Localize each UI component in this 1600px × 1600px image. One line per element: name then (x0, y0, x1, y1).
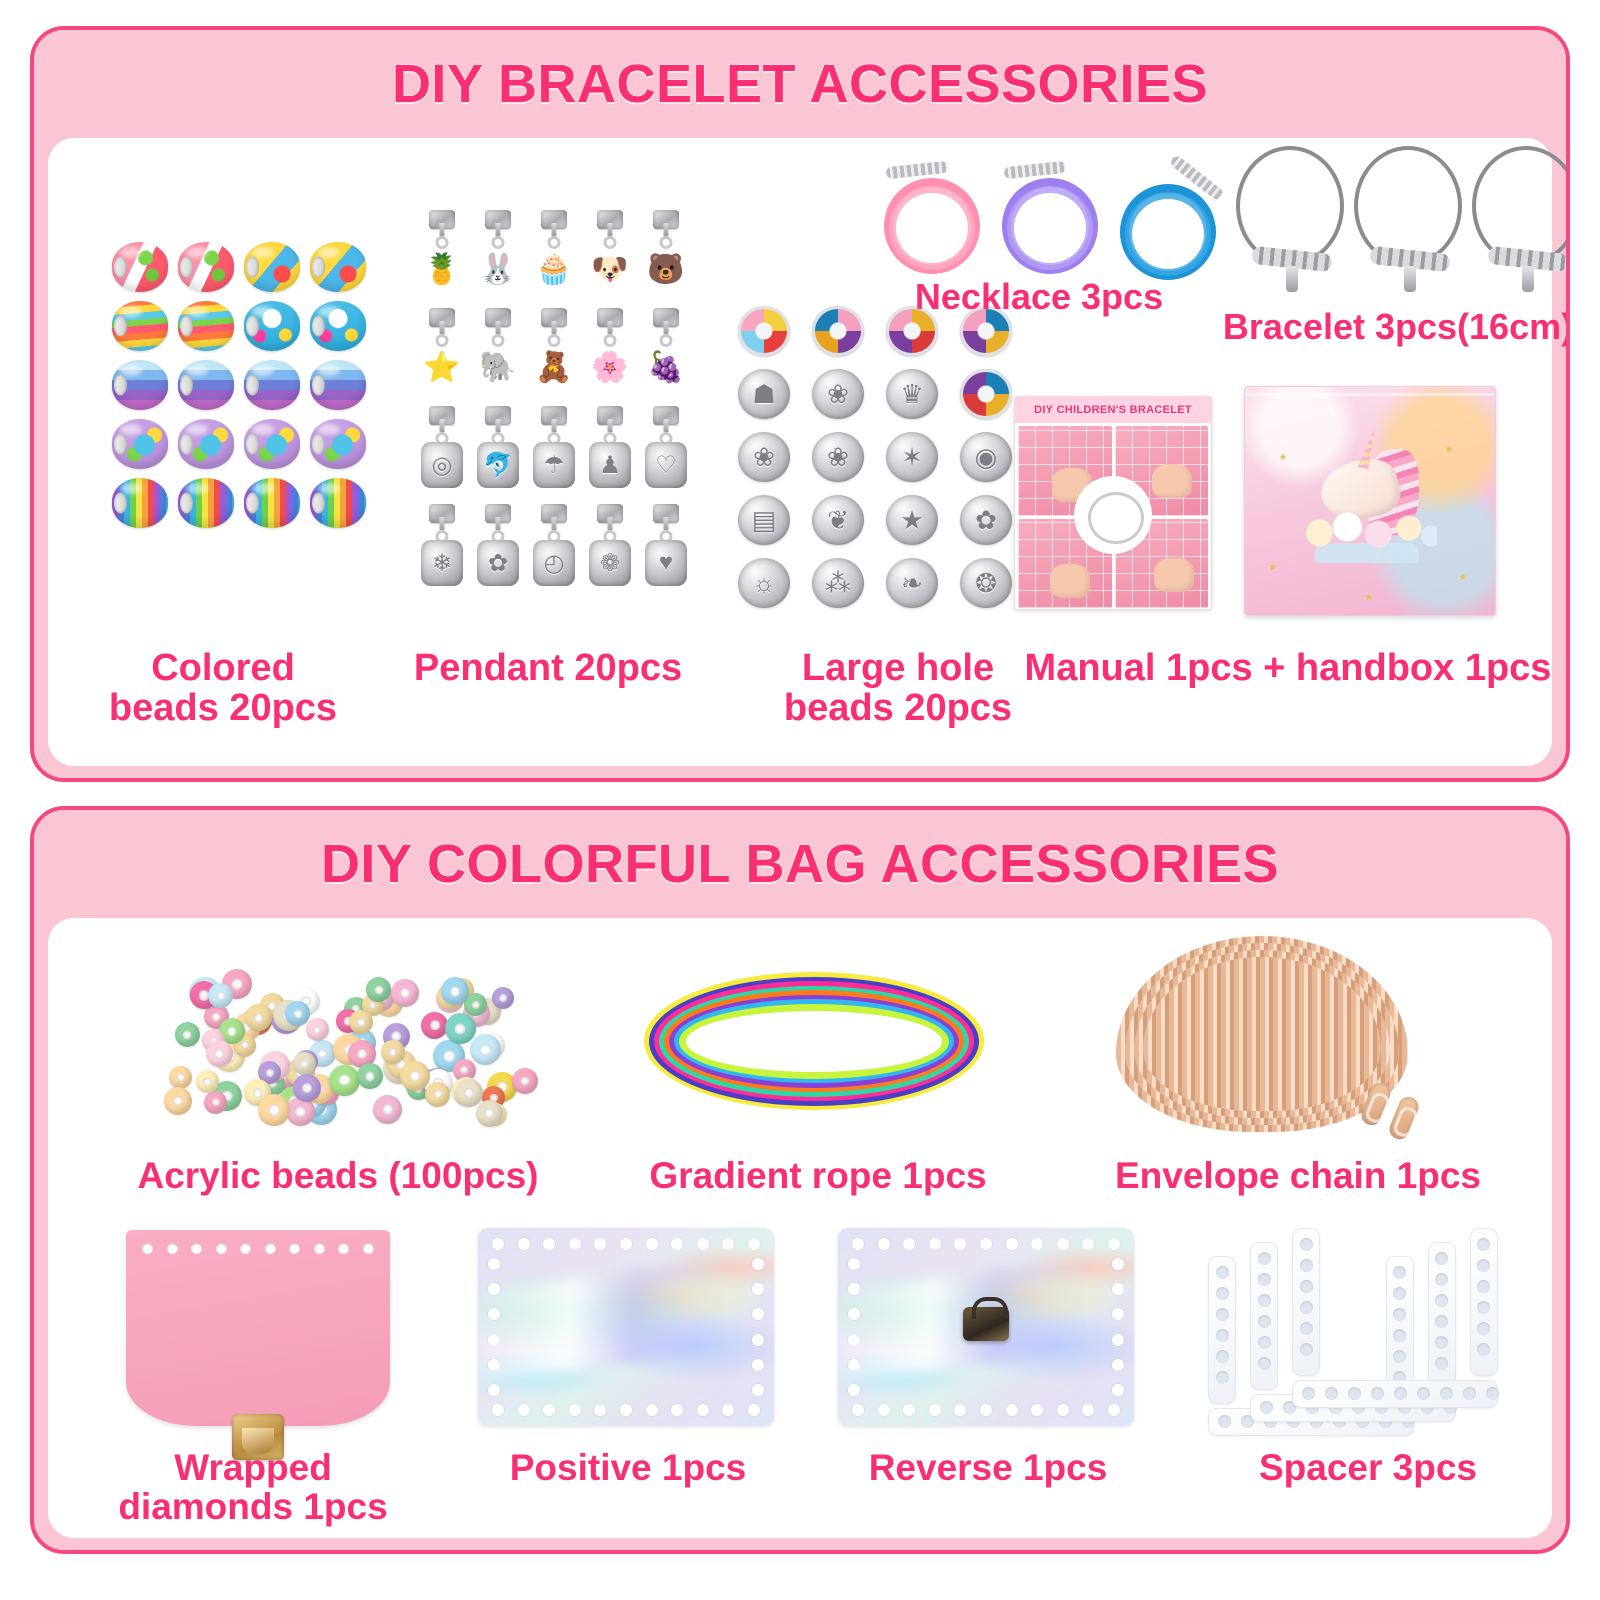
colored-bead-splash-blue (310, 301, 366, 351)
manual-card: DIY CHILDREN'S BRACELET (1014, 396, 1212, 610)
pendant-clock: ◴ (530, 504, 578, 592)
section-title-bracelet: DIY BRACELET ACCESSORIES (392, 53, 1208, 115)
pendant-charm-pink-bear: 🐻 (645, 246, 687, 292)
acrylic-bead (175, 1022, 200, 1047)
pendant-charm-pineapple: 🍍 (421, 246, 463, 292)
acrylic-bead (357, 1063, 383, 1089)
acrylic-bead (400, 1061, 430, 1091)
pendant-round-frame: ◎ (418, 406, 466, 494)
reverse-panel-lock (963, 1307, 1009, 1341)
large-hole-bead-train: ▤ (738, 495, 790, 545)
rope-loop (679, 1004, 949, 1079)
acrylic-bead (349, 1010, 373, 1034)
large-hole-bead-angel-wings: ❂ (960, 558, 1012, 608)
pendant-charm-reindeer: ❁ (589, 540, 631, 586)
acrylic-bead (293, 1074, 321, 1102)
pendant-angel: ♟ (586, 406, 634, 494)
acrylic-bead (293, 1052, 316, 1075)
pendant-bail (597, 210, 623, 229)
section-panel-bag: Acrylic beads (100pcs) Gradient rope 1pc… (48, 918, 1552, 1538)
acrylic-bead (445, 1013, 476, 1044)
pendant-pink-bear: 🐻 (642, 210, 690, 298)
holo-holes-bottom (852, 1404, 1120, 1416)
pendant-bail (429, 504, 455, 523)
pendant-blue-elephant: 🐘 (474, 308, 522, 396)
holo-holes-left (488, 1258, 500, 1396)
large-hole-bead-fairy: ⁂ (812, 558, 864, 608)
section-header-bracelet: DIY BRACELET ACCESSORIES (34, 30, 1566, 138)
pendant-charm-round-frame: ◎ (421, 442, 463, 488)
pendant-dog-tag: ♥ (642, 504, 690, 592)
acrylic-bead (512, 1068, 538, 1094)
pendant-charm-blue-cake: 🧁 (533, 246, 575, 292)
holo-holes-left (848, 1258, 860, 1396)
holo-holes-top (852, 1238, 1120, 1250)
acrylic-bead (258, 1094, 290, 1126)
label-bracelet: Bracelet 3pcs(16cm) (1198, 308, 1570, 346)
spacer-holes-left (1216, 1266, 1229, 1384)
section-title-bag: DIY COLORFUL BAG ACCESSORIES (321, 833, 1279, 895)
colored-bead-lilac-confetti (310, 419, 366, 469)
necklace-blue (1114, 166, 1226, 284)
colored-bead-rainbow-stripe (244, 478, 300, 528)
spacer-holes-left (1258, 1252, 1271, 1370)
bracelet-3 (1464, 146, 1570, 306)
pendant-bail (485, 406, 511, 425)
pendant-charm-angel: ♟ (589, 442, 631, 488)
flap-holes (142, 1243, 374, 1254)
manual-center-illustration (1076, 478, 1150, 552)
pendant-bail (597, 504, 623, 523)
pendant-bail (485, 210, 511, 229)
pendant-bail (485, 504, 511, 523)
pendant-charm-paw-print: ✿ (477, 540, 519, 586)
colored-bead-confetti-yellow (310, 242, 366, 292)
pendant-bail (541, 308, 567, 327)
label-gradient-rope: Gradient rope 1pcs (608, 1156, 1028, 1195)
section-card-bag: DIY COLORFUL BAG ACCESSORIES Acrylic bea… (30, 806, 1570, 1554)
pendant-charm-yellow-bear: 🧸 (533, 344, 575, 390)
colored-bead-stripe-warm (178, 301, 234, 351)
pendant-charm-moon-heart: ♡ (645, 442, 687, 488)
large-hole-beads-grid: ☗❀♛❀❀✶◉▤❦★✿☼⁂❧❂ (738, 306, 1012, 608)
acrylic-bead (476, 1100, 503, 1127)
label-manual-handbox: Manual 1pcs + handbox 1pcs (1008, 648, 1568, 688)
section-header-bag: DIY COLORFUL BAG ACCESSORIES (34, 810, 1566, 918)
pendant-charm-dolphin: 🐬 (477, 442, 519, 488)
large-hole-bead-butterfly (812, 306, 864, 356)
necklace-pink (878, 160, 990, 278)
colored-bead-gradient-blue-purple (178, 360, 234, 410)
holo-panel-positive (478, 1228, 774, 1426)
large-hole-bead-bell: ☗ (738, 369, 790, 419)
spacer-holes-bottom (1302, 1387, 1499, 1400)
label-acrylic-beads: Acrylic beads (100pcs) (78, 1156, 598, 1195)
necklace-extender-chain (1004, 161, 1067, 179)
colored-bead-gradient-blue-purple (244, 360, 300, 410)
acrylic-bead (391, 979, 419, 1007)
pendant-reindeer: ❁ (586, 504, 634, 592)
label-necklace: Necklace 3pcs (874, 278, 1204, 316)
large-hole-bead-enamel-star-flower (960, 369, 1012, 419)
spacer-holes-left (1300, 1238, 1313, 1356)
colored-bead-rainbow-stripe (178, 478, 234, 528)
holo-holes-bottom (492, 1404, 760, 1416)
pendant-bail (597, 406, 623, 425)
pendant-paw-print: ✿ (474, 504, 522, 592)
acrylic-bead (470, 1034, 501, 1065)
pendant-bail (485, 308, 511, 327)
pendant-bail (429, 210, 455, 229)
pendant-charm-blue-elephant: 🐘 (477, 344, 519, 390)
spacer-group (1208, 1222, 1528, 1438)
pendant-pineapple: 🍍 (418, 210, 466, 298)
pendant-charm-pink-flower: 🌸 (589, 344, 631, 390)
large-hole-bead-panda-face: ◉ (960, 432, 1012, 482)
label-envelope-chain: Envelope chain 1pcs (1078, 1156, 1518, 1195)
colored-bead-stripe-warm (112, 301, 168, 351)
pendant-pink-bunny: 🐰 (474, 210, 522, 298)
acrylic-bead (164, 1087, 192, 1115)
pendant-bail (597, 308, 623, 327)
acrylic-bead (492, 987, 514, 1009)
pendant-pink-flower: 🌸 (586, 308, 634, 396)
colored-bead-lilac-confetti (112, 419, 168, 469)
pendant-snowflake: ❄ (418, 504, 466, 592)
large-hole-bead-smiley-sun-flower (738, 306, 790, 356)
spacer-holes-right (1477, 1238, 1490, 1356)
pendant-charm-pink-bunny: 🐰 (477, 246, 519, 292)
large-hole-bead-sun-face: ☼ (738, 558, 790, 608)
necklace-purple (996, 160, 1108, 278)
infographic-page: DIY BRACELET ACCESSORIES Colored beads 2… (0, 0, 1600, 1600)
pendant-purple-star: ⭐ (418, 308, 466, 396)
section-panel-bracelet: Colored beads 20pcs 🍍🐰🧁🐶🐻⭐🐘🧸🌸🍇◎🐬☂♟♡❄✿◴❁♥… (48, 138, 1552, 766)
colored-bead-confetti-yellow (244, 242, 300, 292)
pendant-charm-dog-tag: ♥ (645, 540, 687, 586)
acrylic-bead (206, 1040, 233, 1067)
large-hole-bead-starburst-square: ✶ (886, 432, 938, 482)
acrylic-bead (208, 983, 233, 1008)
label-wrapped-diamonds: Wrapped diamonds 1pcs (68, 1448, 438, 1526)
acrylic-bead (381, 1040, 405, 1064)
bracelet-group (1228, 138, 1570, 318)
pendant-umbrella: ☂ (530, 406, 578, 494)
colored-bead-lilac-confetti (244, 419, 300, 469)
wrapped-diamond-flap (126, 1230, 390, 1426)
acrylic-bead (306, 1018, 329, 1041)
colored-bead-splash-blue (244, 301, 300, 351)
bracelet-1 (1228, 146, 1354, 306)
holo-panel-reverse (838, 1228, 1134, 1426)
pendant-dolphin: 🐬 (474, 406, 522, 494)
pendant-bail (429, 308, 455, 327)
pendant-bail (653, 210, 679, 229)
acrylic-bead (455, 1079, 483, 1107)
colored-bead-confetti-pink (178, 242, 234, 292)
acrylic-bead (373, 1095, 402, 1124)
label-positive: Positive 1pcs (468, 1448, 788, 1487)
acrylic-bead (285, 1001, 310, 1026)
pendant-charm-yellow-puppy: 🐶 (589, 246, 631, 292)
acrylic-bead (329, 1065, 360, 1096)
pendant-bail (429, 406, 455, 425)
pendant-grapes: 🍇 (642, 308, 690, 396)
large-hole-bead-floral-barrel: ❀ (812, 369, 864, 419)
spacer-piece (1292, 1228, 1498, 1408)
pendant-moon-heart: ♡ (642, 406, 690, 494)
acrylic-bead (425, 1082, 450, 1107)
pendant-bail (653, 308, 679, 327)
manual-card-header: DIY CHILDREN'S BRACELET (1015, 397, 1211, 423)
pendant-charm-snowflake: ❄ (421, 540, 463, 586)
pendant-charm-clock: ◴ (533, 540, 575, 586)
colored-bead-confetti-pink (112, 242, 168, 292)
holo-holes-right (752, 1258, 764, 1396)
colored-bead-rainbow-stripe (310, 478, 366, 528)
pendant-charm-umbrella: ☂ (533, 442, 575, 488)
colored-bead-lilac-confetti (178, 419, 234, 469)
acrylic-bead-pile (140, 950, 544, 1140)
large-hole-bead-teddy-bear: ❀ (812, 432, 864, 482)
envelope-chain (1098, 926, 1470, 1144)
label-pendant: Pendant 20pcs (378, 648, 718, 688)
colored-bead-gradient-blue-purple (112, 360, 168, 410)
necklace-extender-chain (886, 161, 949, 179)
chain-lobster-clasp (1386, 1094, 1421, 1142)
pendant-yellow-puppy: 🐶 (586, 210, 634, 298)
large-hole-bead-butterfly-silver: ❦ (812, 495, 864, 545)
gradient-rope (628, 954, 1008, 1130)
pendant-bail (541, 504, 567, 523)
colored-bead-gradient-blue-purple (310, 360, 366, 410)
label-spacer: Spacer 3pcs (1178, 1448, 1558, 1487)
pendant-bail (653, 504, 679, 523)
holo-holes-top (492, 1238, 760, 1250)
unicorn-handbox (1244, 386, 1496, 616)
holo-holes-right (1112, 1258, 1124, 1396)
section-card-bracelet: DIY BRACELET ACCESSORIES Colored beads 2… (30, 26, 1570, 782)
colored-bead-rainbow-stripe (112, 478, 168, 528)
bracelet-2 (1346, 146, 1472, 306)
large-hole-bead-star-coin: ★ (886, 495, 938, 545)
large-hole-bead-crown: ♛ (886, 369, 938, 419)
label-reverse: Reverse 1pcs (828, 1448, 1148, 1487)
large-hole-bead-ribbon: ❧ (886, 558, 938, 608)
label-colored-beads: Colored beads 20pcs (68, 648, 378, 729)
large-hole-bead-jellyfish: ❀ (738, 432, 790, 482)
acrylic-bead (169, 1066, 192, 1089)
colored-beads-grid (112, 242, 366, 528)
pendant-bail (653, 406, 679, 425)
pendant-charm-purple-star: ⭐ (421, 344, 463, 390)
pendant-yellow-bear: 🧸 (530, 308, 578, 396)
pendant-bail (541, 406, 567, 425)
pendant-blue-cake: 🧁 (530, 210, 578, 298)
acrylic-bead (204, 1091, 227, 1114)
acrylic-bead (196, 1070, 219, 1093)
large-hole-bead-rose: ✿ (960, 495, 1012, 545)
pendant-charm-grapes: 🍇 (645, 344, 687, 390)
pendant-grid: 🍍🐰🧁🐶🐻⭐🐘🧸🌸🍇◎🐬☂♟♡❄✿◴❁♥ (418, 210, 690, 592)
unicorn-illustration (1301, 423, 1429, 547)
pendant-bail (541, 210, 567, 229)
